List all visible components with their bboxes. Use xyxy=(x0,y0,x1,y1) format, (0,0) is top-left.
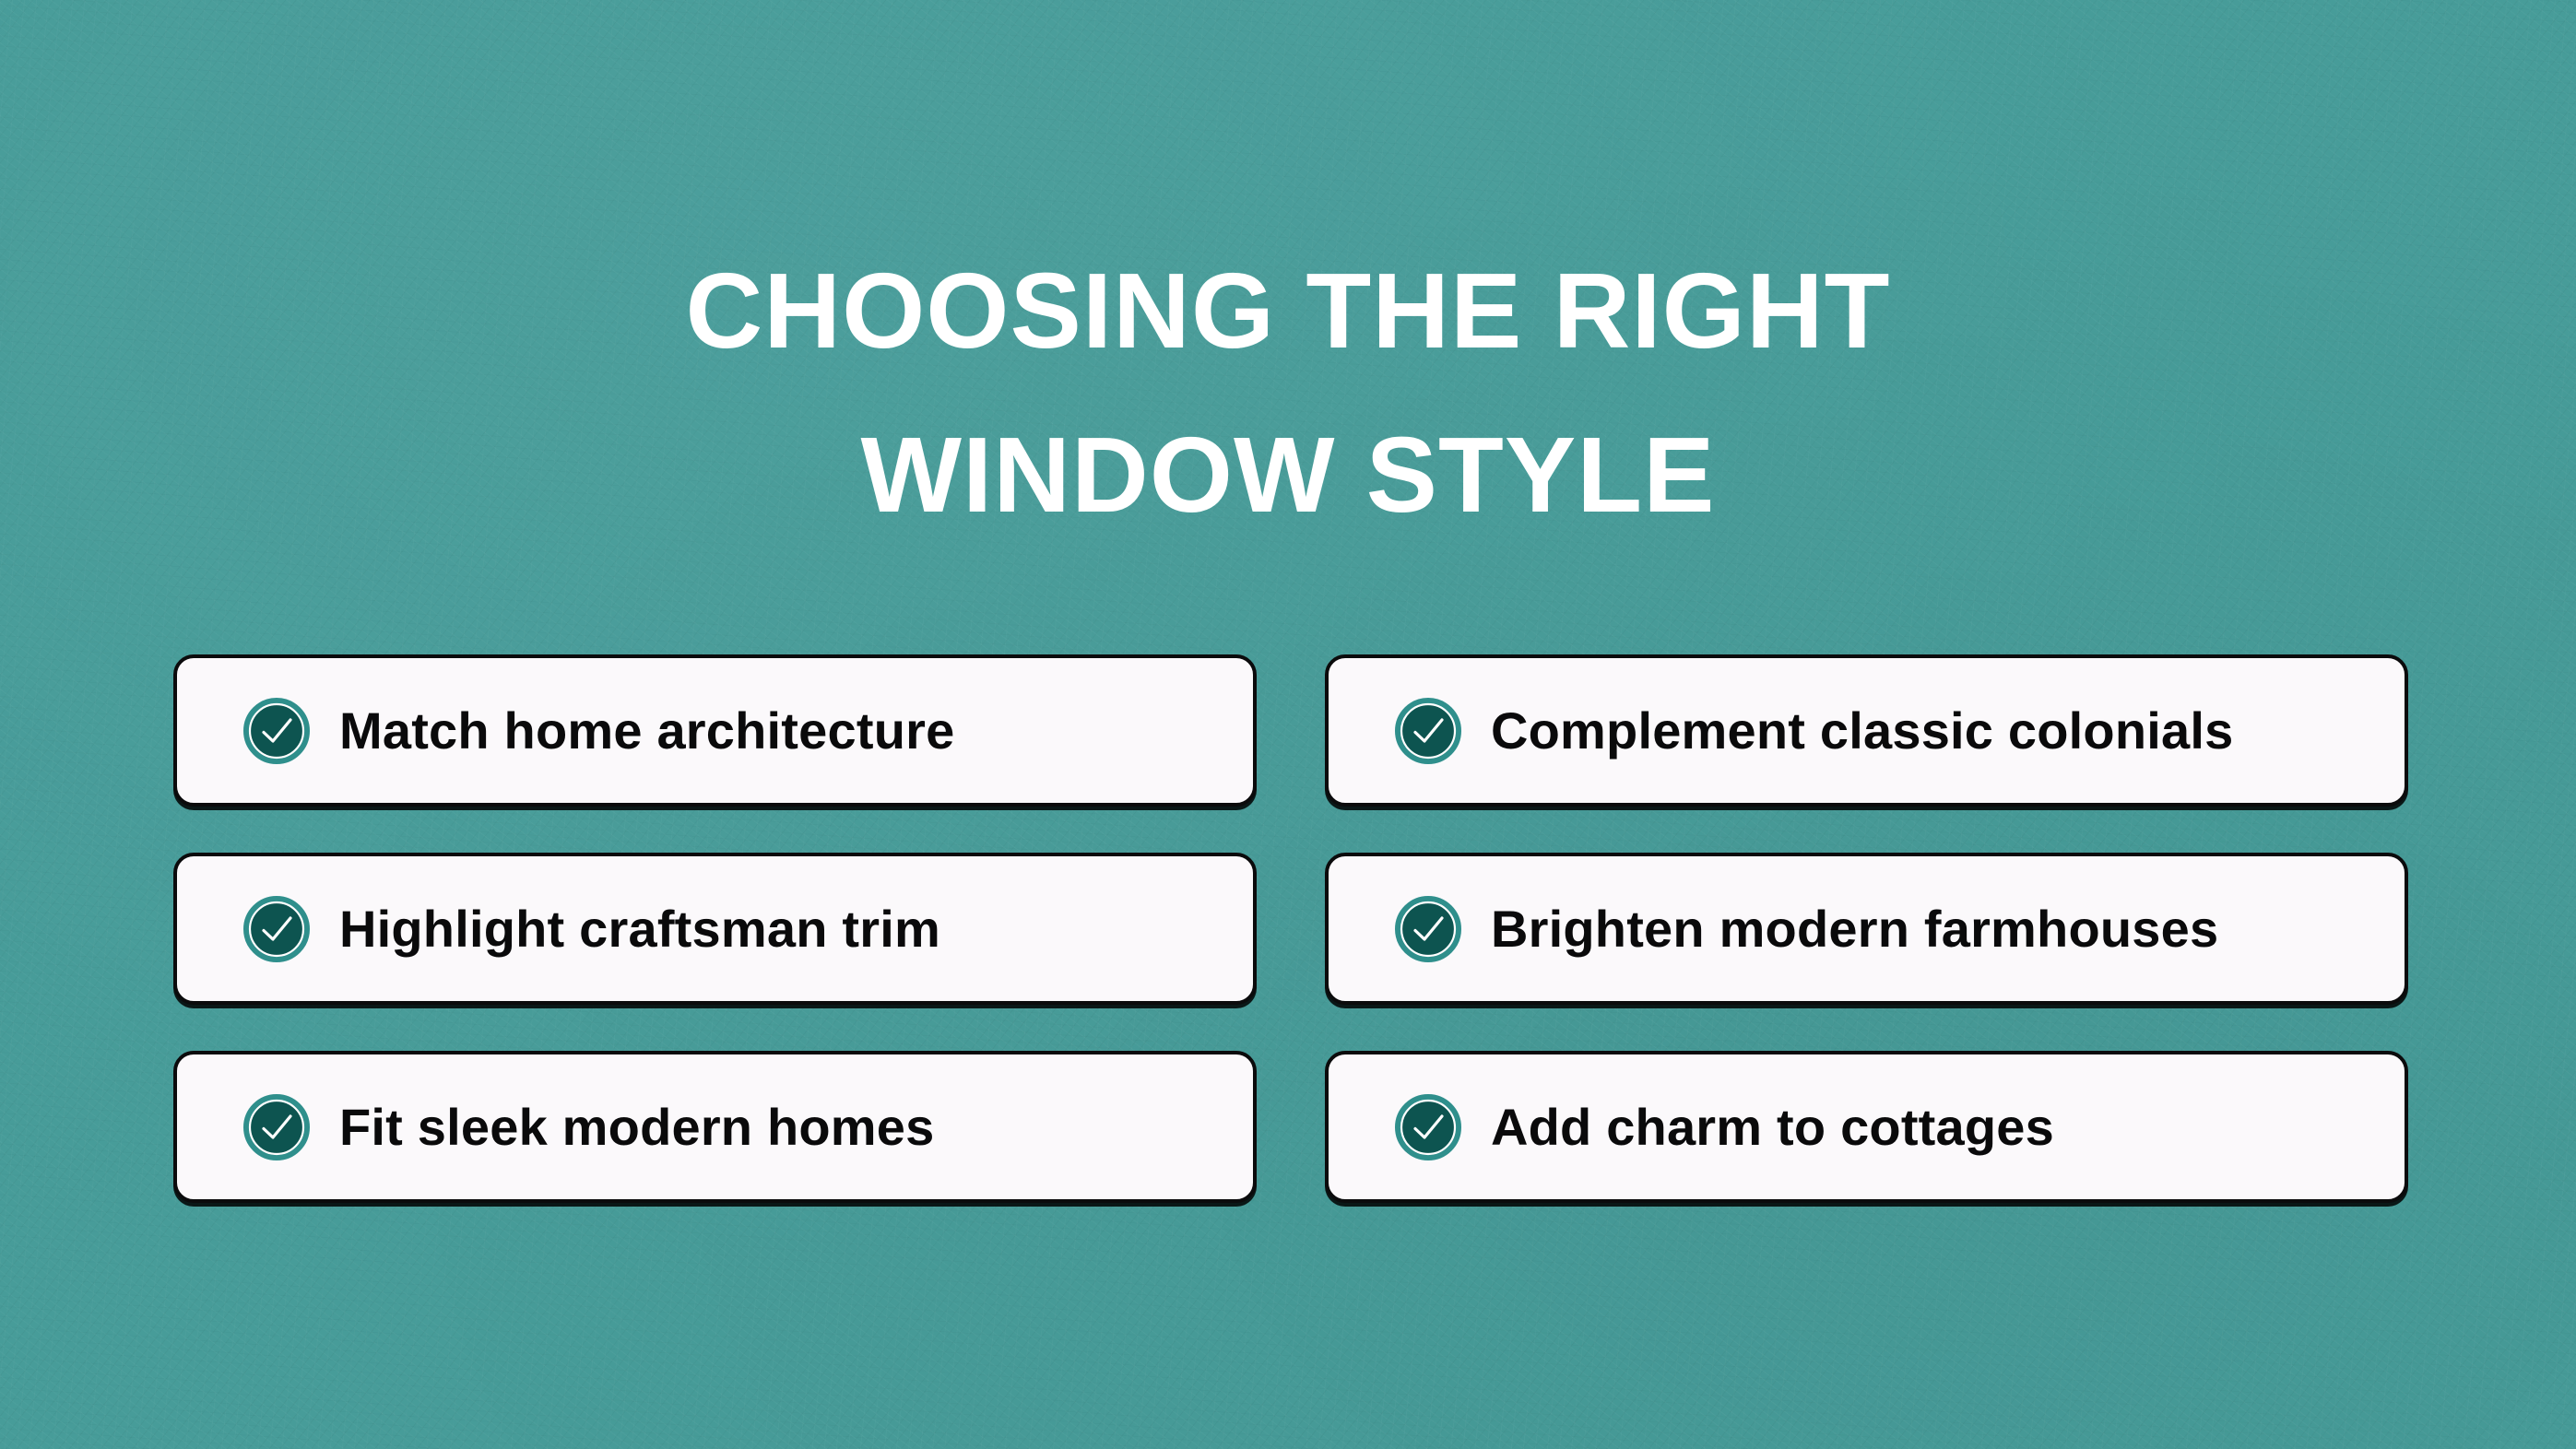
checklist-grid: Match home architecture Complement class… xyxy=(173,654,2408,1203)
page-title: CHOOSING THE RIGHT WINDOW STYLE xyxy=(0,229,2576,557)
check-circle-icon xyxy=(243,698,310,764)
check-circle-icon xyxy=(243,1094,310,1160)
checklist-item-label: Match home architecture xyxy=(339,702,954,760)
check-circle-icon xyxy=(243,896,310,962)
title-line-1: CHOOSING THE RIGHT xyxy=(0,229,2576,393)
checklist-item-label: Complement classic colonials xyxy=(1491,702,2233,760)
checklist-item-3[interactable]: Highlight craftsman trim xyxy=(173,853,1257,1005)
check-circle-icon xyxy=(1395,1094,1461,1160)
checklist-item-2[interactable]: Complement classic colonials xyxy=(1325,654,2408,807)
slide-canvas: CHOOSING THE RIGHT WINDOW STYLE Match ho… xyxy=(0,0,2576,1449)
checklist-item-6[interactable]: Add charm to cottages xyxy=(1325,1051,2408,1203)
title-line-2: WINDOW STYLE xyxy=(0,393,2576,557)
checklist-item-label: Brighten modern farmhouses xyxy=(1491,901,2218,958)
checklist-item-label: Add charm to cottages xyxy=(1491,1099,2054,1156)
checklist-item-5[interactable]: Fit sleek modern homes xyxy=(173,1051,1257,1203)
check-circle-icon xyxy=(1395,896,1461,962)
check-circle-icon xyxy=(1395,698,1461,764)
checklist-item-label: Highlight craftsman trim xyxy=(339,901,940,958)
checklist-item-label: Fit sleek modern homes xyxy=(339,1099,934,1156)
checklist-item-1[interactable]: Match home architecture xyxy=(173,654,1257,807)
checklist-item-4[interactable]: Brighten modern farmhouses xyxy=(1325,853,2408,1005)
